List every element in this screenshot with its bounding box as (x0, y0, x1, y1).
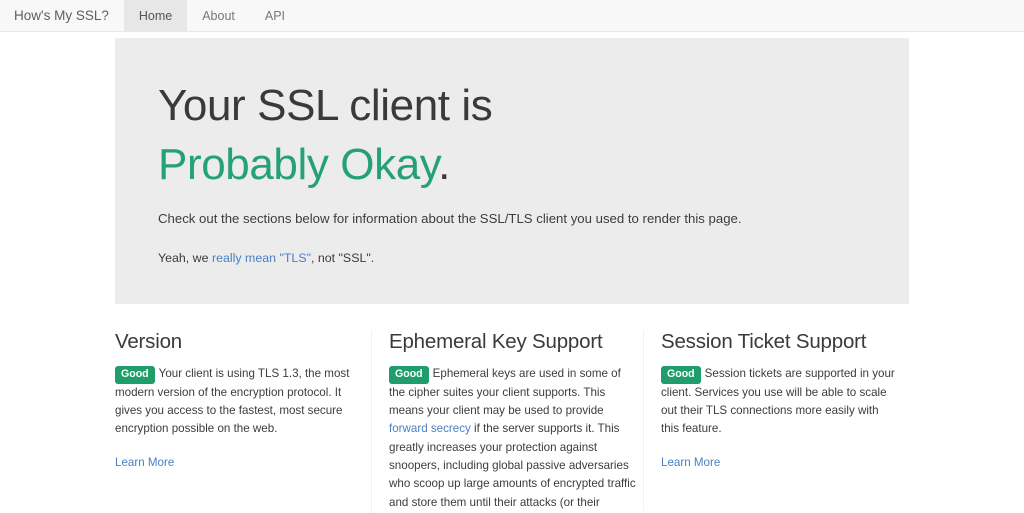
section-title-ephemeral: Ephemeral Key Support (389, 330, 637, 355)
section-text-ephemeral-post: if the server supports it. This greatly … (389, 422, 636, 513)
hero-title: Your SSL client is (158, 80, 866, 132)
top-navbar: How's My SSL? Home About API (0, 0, 1024, 32)
hero-subtitle: Check out the sections below for informa… (158, 209, 866, 229)
hero-note-suffix: , not "SSL". (311, 251, 374, 265)
verdict-period: . (438, 140, 450, 189)
page-container: Your SSL client is Probably Okay. Check … (115, 38, 909, 513)
forward-secrecy-link[interactable]: forward secrecy (389, 422, 471, 435)
hero-panel: Your SSL client is Probably Okay. Check … (115, 38, 909, 304)
status-badge-version: Good (115, 366, 155, 384)
nav-item-home[interactable]: Home (124, 0, 187, 31)
section-session-ticket-support: Session Ticket Support GoodSession ticke… (651, 330, 909, 471)
nav-item-api[interactable]: API (250, 0, 300, 31)
section-body-session-ticket: GoodSession tickets are supported in you… (661, 365, 895, 439)
section-body-version: GoodYour client is using TLS 1.3, the mo… (115, 365, 365, 439)
nav-item-about[interactable]: About (187, 0, 250, 31)
verdict-word: Probably Okay (158, 140, 438, 189)
brand-link[interactable]: How's My SSL? (0, 0, 124, 31)
nav-item-list: Home About API (124, 0, 300, 31)
section-body-ephemeral: GoodEphemeral keys are used in some of t… (389, 365, 637, 513)
section-ephemeral-key-support: Ephemeral Key Support GoodEphemeral keys… (379, 330, 651, 513)
hero-verdict: Probably Okay. (158, 136, 866, 193)
section-title-version: Version (115, 330, 365, 355)
status-badge-session-ticket: Good (661, 366, 701, 384)
really-mean-tls-link[interactable]: really mean "TLS" (212, 251, 311, 265)
hero-note: Yeah, we really mean "TLS", not "SSL". (158, 249, 866, 268)
info-columns: Version GoodYour client is using TLS 1.3… (115, 330, 909, 513)
learn-more-link-version[interactable]: Learn More (115, 456, 174, 469)
nav-list-item: About (187, 0, 250, 31)
hero-note-prefix: Yeah, we (158, 251, 212, 265)
section-title-session-ticket: Session Ticket Support (661, 330, 895, 355)
nav-list-item: API (250, 0, 300, 31)
section-version: Version GoodYour client is using TLS 1.3… (115, 330, 379, 471)
status-badge-ephemeral: Good (389, 366, 429, 384)
learn-more-link-session-ticket[interactable]: Learn More (661, 456, 720, 469)
nav-list-item: Home (124, 0, 187, 31)
